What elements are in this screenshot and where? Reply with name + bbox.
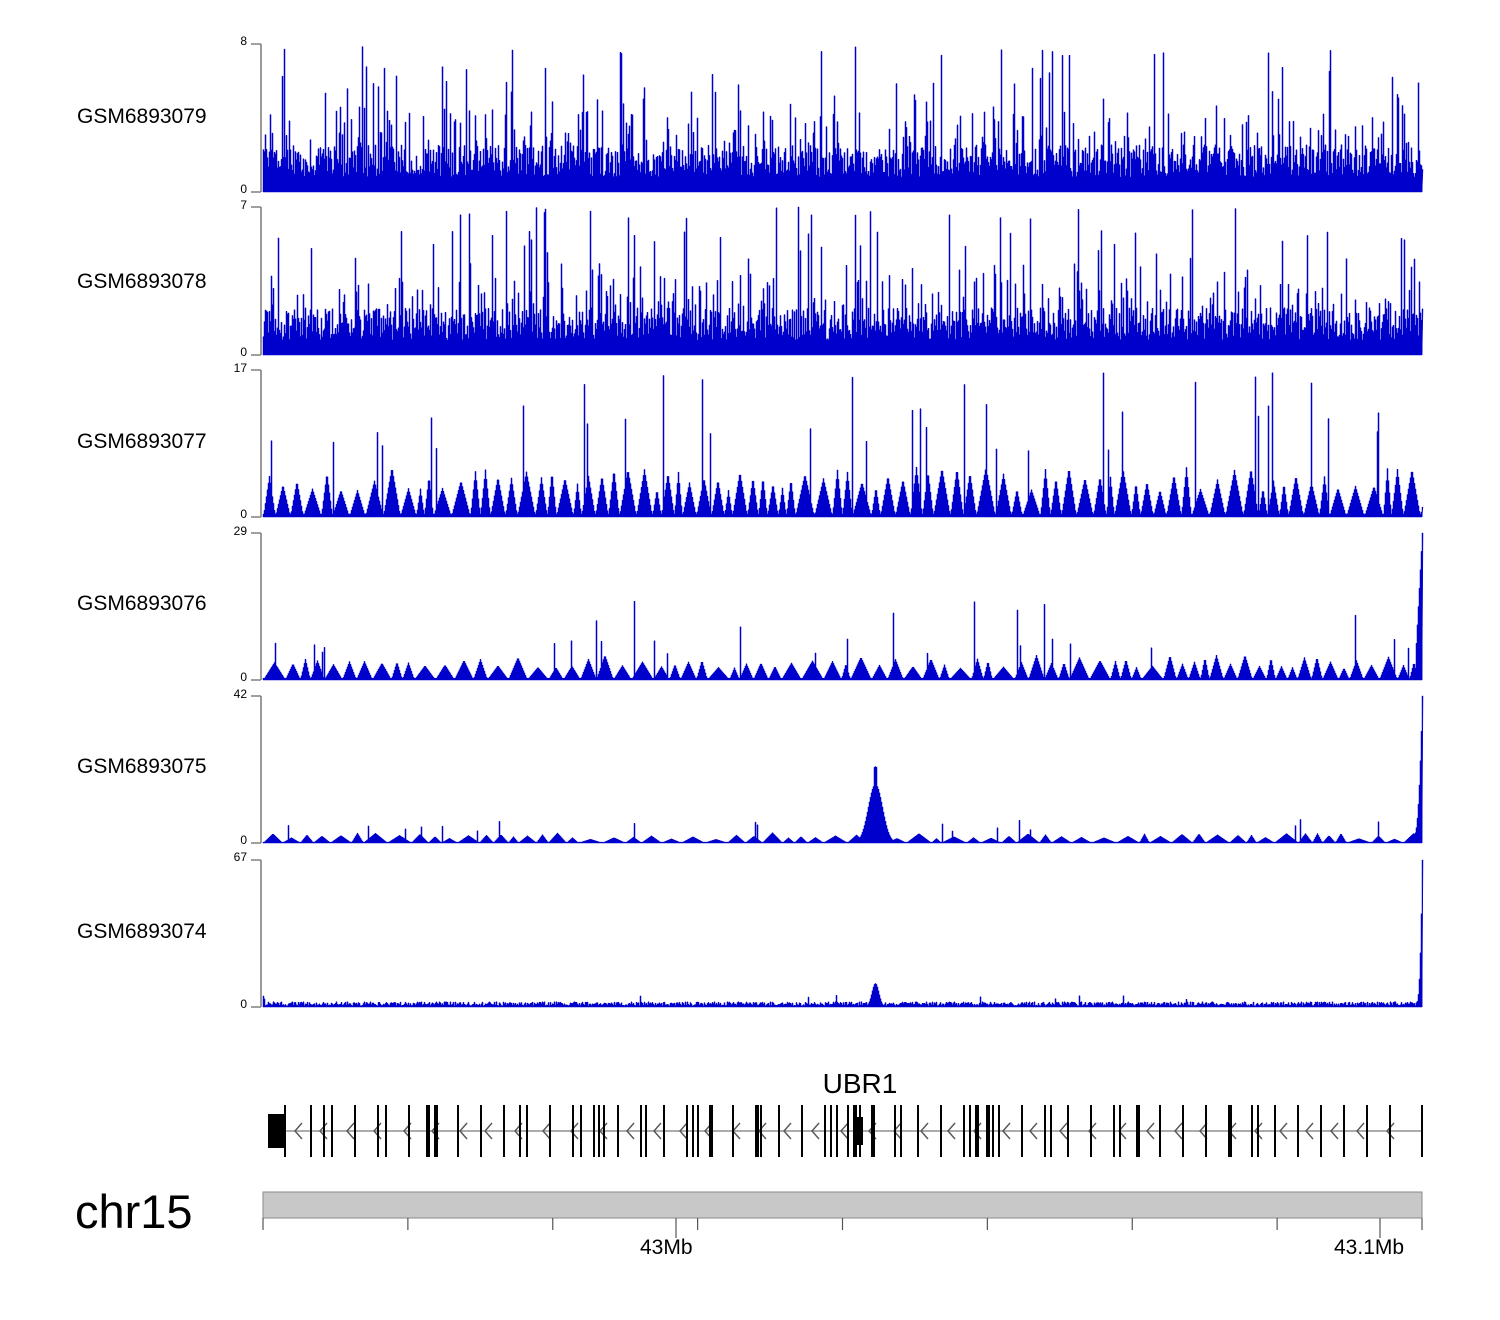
gene-exon <box>1119 1105 1121 1157</box>
gene-exon <box>526 1105 528 1157</box>
gene-exon <box>549 1105 551 1157</box>
gene-exon <box>1182 1105 1184 1157</box>
axis-tick-label-start: 43Mb <box>640 1236 693 1260</box>
gene-exon <box>503 1105 505 1157</box>
gene-exon <box>519 1105 521 1157</box>
gene-exon <box>640 1105 642 1157</box>
gene-exon <box>686 1105 688 1157</box>
gene-exon <box>998 1105 1000 1157</box>
gene-exon <box>992 1105 994 1157</box>
gene-exon <box>692 1105 694 1157</box>
gene-exon <box>900 1105 902 1157</box>
gene-exon <box>310 1105 312 1157</box>
gene-exon <box>426 1105 430 1157</box>
gene-exon <box>969 1105 971 1157</box>
gene-exon <box>408 1105 410 1157</box>
gene-exon <box>323 1105 325 1157</box>
ideogram-axis <box>0 1186 1500 1266</box>
gene-exon <box>1113 1105 1115 1157</box>
gene-exon <box>598 1105 600 1157</box>
gene-exon <box>1205 1105 1207 1157</box>
gene-exon <box>1228 1105 1232 1157</box>
track-axis <box>251 370 261 517</box>
track-axis <box>251 533 261 680</box>
gene-exon <box>1343 1105 1345 1157</box>
coverage-tracks <box>0 0 1500 1040</box>
gene-exon <box>830 1105 832 1157</box>
coverage-area <box>263 860 1423 1007</box>
gene-exon <box>1044 1105 1046 1157</box>
gene-exon <box>760 1105 762 1157</box>
gene-exon <box>836 1105 838 1157</box>
ideogram-bar <box>263 1192 1422 1218</box>
gene-exon <box>1159 1105 1161 1157</box>
gene-exon <box>603 1105 605 1157</box>
track-axis <box>251 860 261 1007</box>
gene-exon <box>1251 1105 1253 1157</box>
coverage-area <box>263 533 1423 680</box>
gene-exon <box>697 1105 699 1157</box>
gene-exon <box>617 1105 619 1157</box>
gene-exon <box>1136 1105 1140 1157</box>
gene-cds-block <box>268 1117 284 1145</box>
gene-exon <box>1320 1105 1322 1157</box>
gene-exon <box>917 1105 919 1157</box>
gene-exon <box>709 1105 713 1157</box>
gene-exon <box>1257 1105 1259 1157</box>
coverage-area <box>263 696 1423 843</box>
coverage-area <box>263 47 1423 192</box>
gene-exon <box>580 1105 582 1157</box>
track-axis <box>251 696 261 843</box>
genome-browser-panel: GSM6893079 GSM6893078 GSM6893077 GSM6893… <box>0 0 1500 1320</box>
gene-exon <box>331 1105 333 1157</box>
gene-exon <box>801 1105 803 1157</box>
axis-tick-label-end: 43.1Mb <box>1334 1236 1404 1260</box>
gene-exon <box>778 1105 780 1157</box>
coverage-area <box>263 207 1423 355</box>
gene-exon <box>572 1105 574 1157</box>
gene-exon <box>1297 1105 1299 1157</box>
gene-exon <box>1421 1105 1423 1157</box>
gene-exon <box>963 1105 965 1157</box>
gene-exon <box>284 1105 286 1157</box>
gene-exon <box>1050 1105 1052 1157</box>
gene-exon <box>871 1105 875 1157</box>
gene-exon <box>847 1105 849 1157</box>
gene-exon <box>1067 1105 1069 1157</box>
gene-exon <box>1389 1105 1391 1157</box>
gene-exon <box>1021 1105 1023 1157</box>
gene-exon <box>1366 1105 1368 1157</box>
gene-exon <box>593 1105 595 1157</box>
track-axis <box>251 44 261 192</box>
gene-exon <box>1090 1105 1092 1157</box>
gene-exon <box>975 1105 979 1157</box>
gene-exon <box>645 1105 647 1157</box>
gene-exon <box>940 1105 942 1157</box>
gene-exon <box>732 1105 734 1157</box>
gene-exon <box>354 1105 356 1157</box>
gene-exon <box>824 1105 826 1157</box>
coverage-area <box>263 373 1423 517</box>
gene-exon <box>894 1105 896 1157</box>
gene-exon <box>434 1105 438 1157</box>
gene-exon <box>1274 1105 1276 1157</box>
track-axis <box>251 207 261 355</box>
gene-exon <box>377 1105 379 1157</box>
gene-exon <box>385 1105 387 1157</box>
gene-cds-block <box>853 1117 863 1145</box>
gene-exon <box>986 1105 990 1157</box>
gene-exon <box>663 1105 665 1157</box>
gene-exon <box>755 1105 759 1157</box>
gene-exon <box>480 1105 482 1157</box>
gene-exon <box>457 1105 459 1157</box>
